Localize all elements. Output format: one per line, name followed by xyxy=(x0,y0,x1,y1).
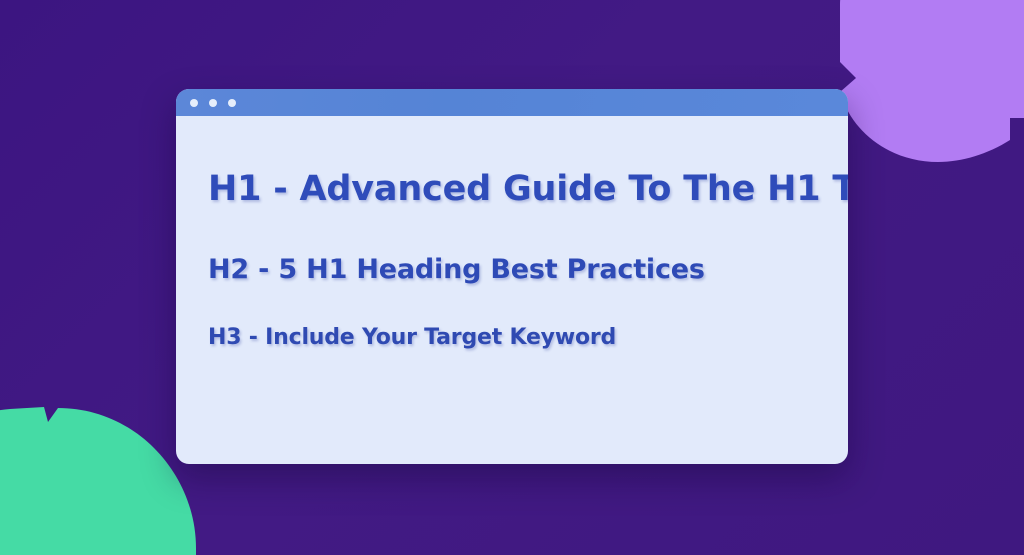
window-control-dots xyxy=(190,89,236,116)
heading-h2: H2 - 5 H1 Heading Best Practices xyxy=(208,256,848,283)
maximize-dot-icon[interactable] xyxy=(228,99,236,107)
heading-h3: H3 - Include Your Target Keyword xyxy=(208,327,848,349)
close-dot-icon[interactable] xyxy=(190,99,198,107)
browser-window-mockup: H1 - Advanced Guide To The H1 Tag H2 - 5… xyxy=(176,89,848,464)
illustration-canvas: H1 - Advanced Guide To The H1 Tag H2 - 5… xyxy=(0,0,1024,555)
minimize-dot-icon[interactable] xyxy=(209,99,217,107)
heading-h1: H1 - Advanced Guide To The H1 Tag xyxy=(208,172,848,207)
browser-content-area: H1 - Advanced Guide To The H1 Tag H2 - 5… xyxy=(176,116,848,464)
browser-title-bar xyxy=(176,89,848,116)
